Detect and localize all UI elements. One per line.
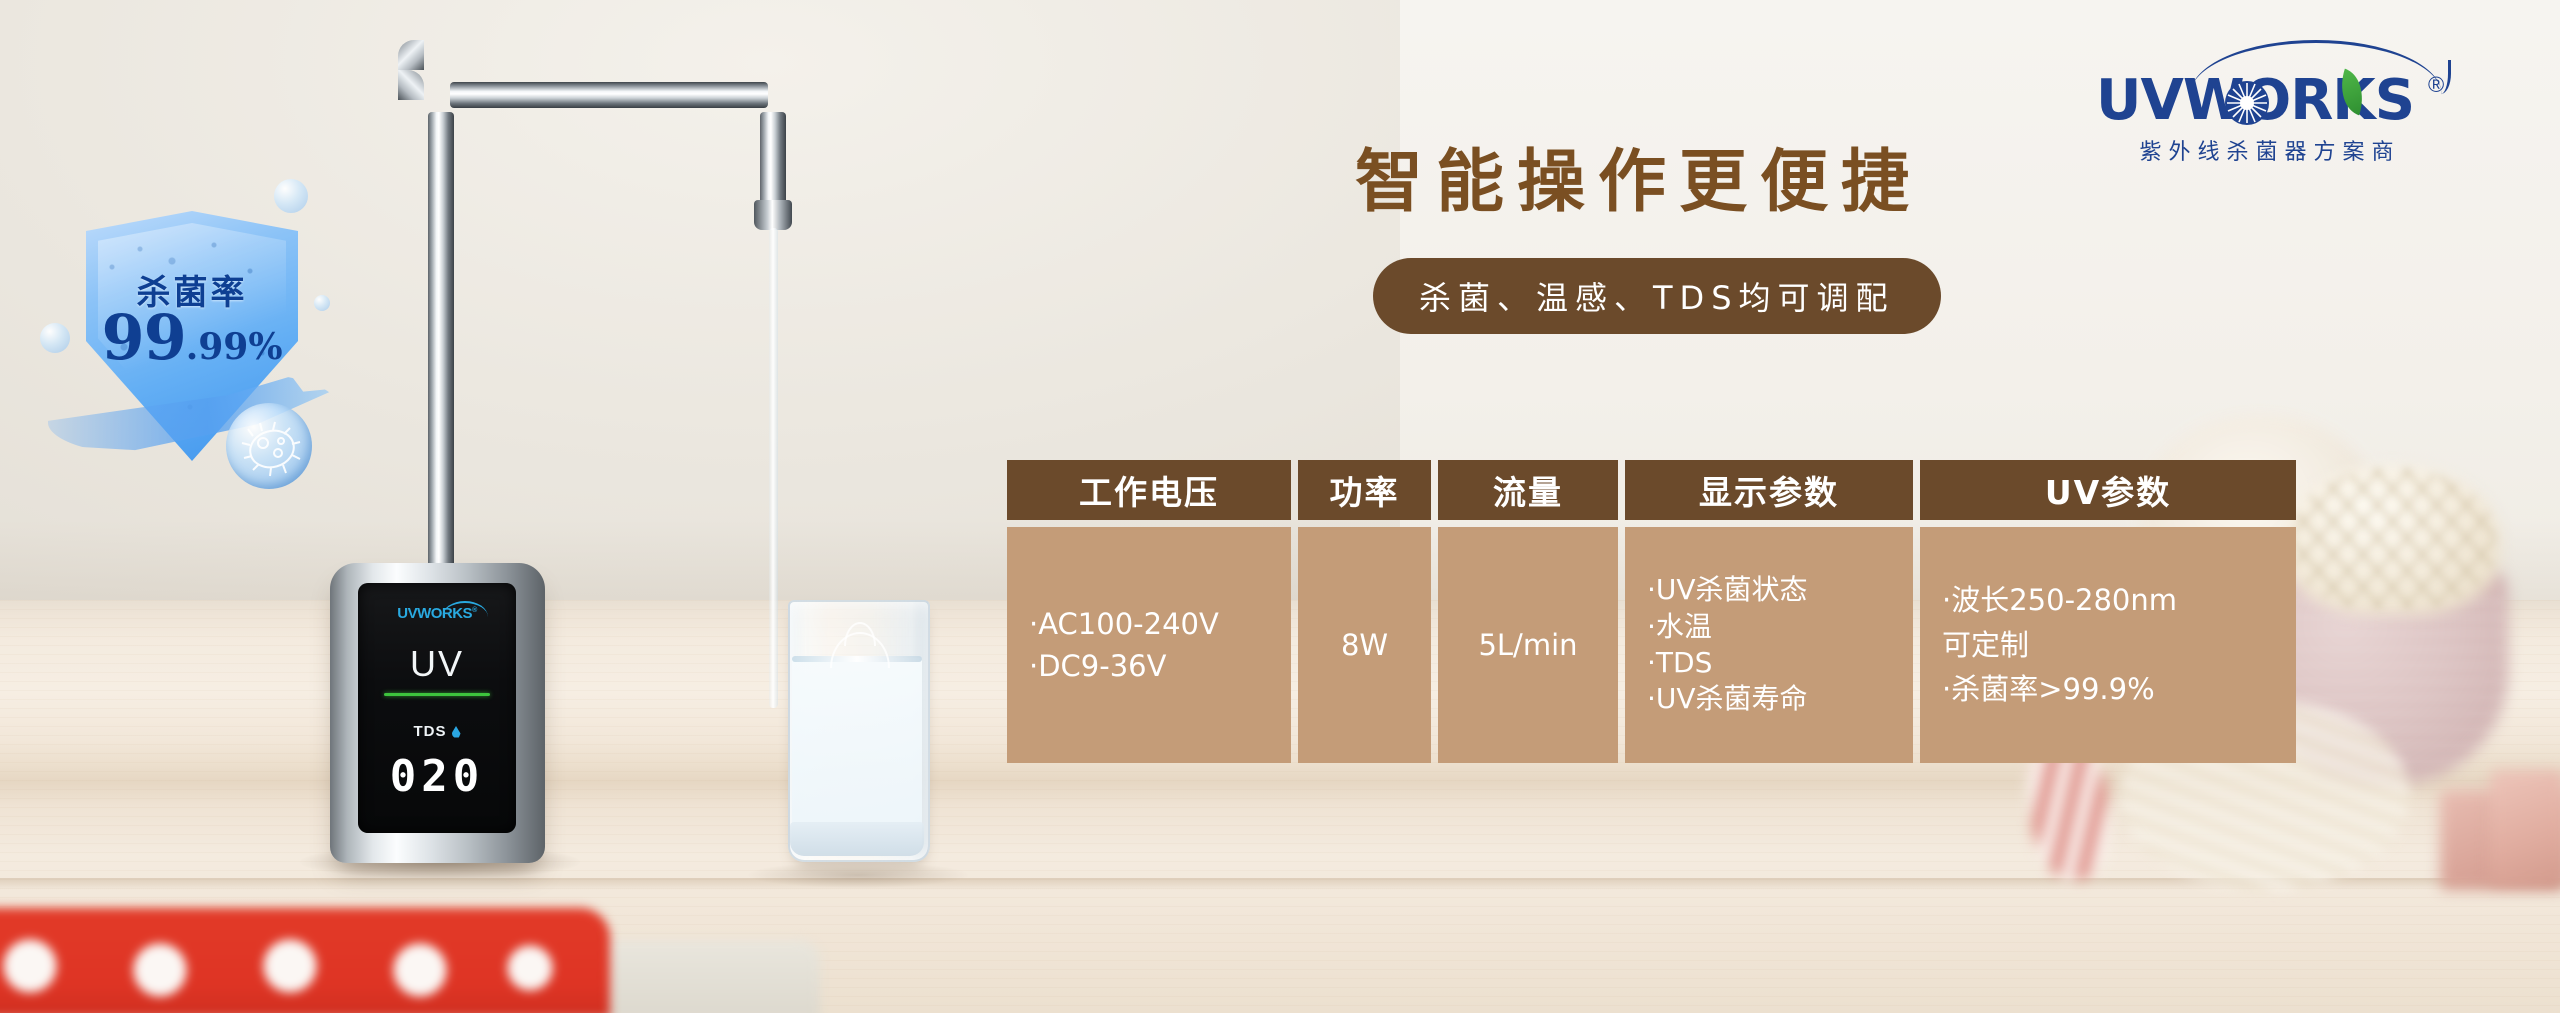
registered-trademark-icon: ® xyxy=(2428,72,2444,98)
spec-line: ·杀菌率>99.9% xyxy=(1942,667,2155,712)
subtitle-pill: 杀菌、温感、TDS均可调配 xyxy=(1373,258,1941,334)
spec-line: ·DC9-36V xyxy=(1029,645,1166,687)
bubble-icon-3 xyxy=(314,295,330,311)
spec-line: ·UV杀菌寿命 xyxy=(1647,681,1808,717)
screen-tds-label: TDS xyxy=(414,723,447,740)
faucet xyxy=(398,40,818,600)
spec-header: UV参数 xyxy=(1920,460,2296,520)
brand-logo: UVWORKS ® 紫外线杀菌器方案商 xyxy=(2090,38,2490,158)
faucet-horizontal-arm xyxy=(450,82,768,108)
screen-status-bar xyxy=(384,693,490,696)
faucet-aerator xyxy=(754,200,792,230)
bubble-icon-1 xyxy=(274,179,308,213)
wooden-block-2 xyxy=(2490,770,2560,885)
spec-column-display: 显示参数 ·UV杀菌状态 ·水温 ·TDS ·UV杀菌寿命 xyxy=(1625,460,1913,763)
polka-dot-towel xyxy=(0,908,610,1013)
spec-header: 显示参数 xyxy=(1625,460,1913,520)
spec-cell: ·UV杀菌状态 ·水温 ·TDS ·UV杀菌寿命 xyxy=(1625,527,1913,763)
spec-column-voltage: 工作电压 ·AC100-240V ·DC9-36V xyxy=(1007,460,1291,763)
spec-line: ·TDS xyxy=(1647,645,1712,681)
countertop-edge xyxy=(0,878,2560,890)
badge-percentage-minor: .99% xyxy=(186,326,283,368)
spec-column-flow: 流量 5L/min xyxy=(1438,460,1618,763)
faucet-riser xyxy=(428,112,454,607)
badge-percentage: 99.99% xyxy=(86,307,298,369)
screen-brand-logo: UVWORKS® xyxy=(358,605,516,622)
yarn-weave xyxy=(2290,468,2495,608)
spec-cell: 8W xyxy=(1298,527,1431,763)
screen-brand-registered: ® xyxy=(472,607,477,614)
water-stream xyxy=(769,228,778,708)
bubble-icon-2 xyxy=(40,323,70,353)
faucet-corner-right xyxy=(398,70,424,100)
device-screen: UVWORKS® UV TDS 020 xyxy=(358,583,516,833)
glass-base xyxy=(790,822,924,856)
page-title: 智能操作更便捷 xyxy=(1355,126,1922,225)
spec-line: 8W xyxy=(1341,624,1388,666)
sunburst-icon xyxy=(2224,80,2270,126)
spec-header: 流量 xyxy=(1438,460,1618,520)
spec-column-uv: UV参数 ·波长250-280nm 可定制 ·杀菌率>99.9% xyxy=(1920,460,2296,763)
screen-brand-text: UVWORKS xyxy=(397,605,472,622)
spec-line: ·波长250-280nm xyxy=(1942,578,2177,623)
spec-line: ·UV杀菌状态 xyxy=(1647,572,1808,608)
badge-percentage-major: 99 xyxy=(101,301,185,374)
logo-tagline: 紫外线杀菌器方案商 xyxy=(2100,134,2440,166)
screen-tds-row: TDS xyxy=(358,723,516,740)
spec-cell: 5L/min xyxy=(1438,527,1618,763)
water-glass xyxy=(778,600,938,880)
spec-column-power: 功率 8W xyxy=(1298,460,1431,763)
water-droplet-icon xyxy=(452,726,461,738)
spec-table: 工作电压 ·AC100-240V ·DC9-36V 功率 8W 流量 5L/mi… xyxy=(1007,460,2296,763)
screen-tds-value: 020 xyxy=(358,755,516,799)
product-banner: UVWORKS® UV TDS 020 杀菌率 99.99% xyxy=(0,0,2560,1013)
uv-sterilizer-device: UVWORKS® UV TDS 020 xyxy=(330,563,545,863)
spec-line: ·水温 xyxy=(1647,609,1712,645)
faucet-corner-left xyxy=(398,40,424,70)
spec-header: 工作电压 xyxy=(1007,460,1291,520)
spec-cell: ·AC100-240V ·DC9-36V xyxy=(1007,527,1291,763)
spec-cell: ·波长250-280nm 可定制 ·杀菌率>99.9% xyxy=(1920,527,2296,763)
screen-mode-label: UV xyxy=(358,643,516,685)
spec-header: 功率 xyxy=(1298,460,1431,520)
spec-line: 5L/min xyxy=(1478,624,1577,666)
faucet-spout xyxy=(760,112,786,212)
spec-line: ·AC100-240V xyxy=(1029,603,1219,645)
sterilization-rate-badge: 杀菌率 99.99% xyxy=(38,175,343,505)
spec-line: 可定制 xyxy=(1942,623,2029,668)
bacteria-icon xyxy=(226,403,312,489)
